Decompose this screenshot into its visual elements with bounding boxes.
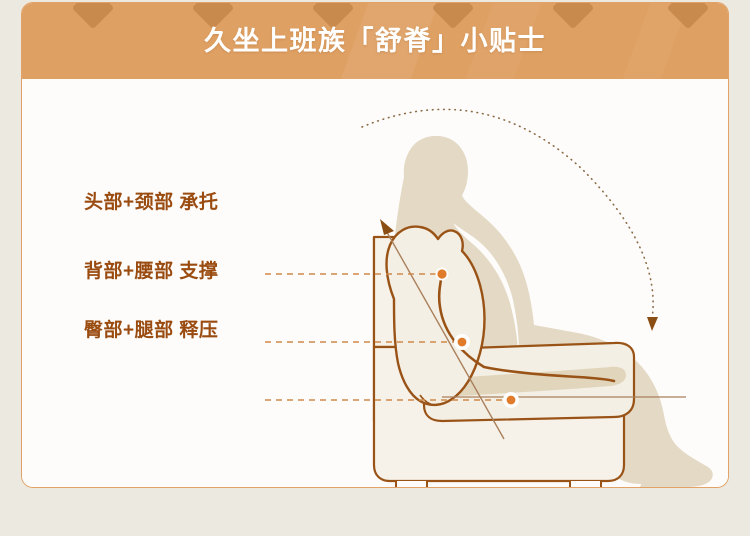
spine-contour-line: [439, 274, 614, 381]
sofa-seat-cushion: [424, 343, 634, 421]
card-body: 头部+颈部 承托 背部+腰部 支撑 臀部+腿部 释压: [22, 79, 728, 487]
callout-dot-back-waist[interactable]: [454, 334, 470, 350]
person-silhouette: [393, 136, 718, 488]
tips-card: 久坐上班族「舒脊」小贴士 头部+颈部 承托 背部+腰部 支撑 臀部+腿部 释压: [21, 2, 729, 488]
sofa-leg-back: [570, 481, 601, 488]
callout-dot-hip-leg[interactable]: [503, 392, 519, 408]
sofa-leg-front: [396, 481, 427, 488]
cushion-base-arc: [420, 395, 436, 405]
sofa-posture-illustration: [22, 79, 729, 488]
sofa-back-cushion: [387, 227, 485, 405]
recline-arc-dotted: [362, 109, 653, 319]
callout-dot-head-neck[interactable]: [436, 268, 449, 281]
recline-reference-line: [384, 227, 504, 439]
arc-arrowhead-icon: [647, 317, 658, 331]
sofa-back-panel: [374, 237, 496, 421]
sofa-arm-panel: [374, 237, 426, 347]
callout-label-head-neck: 头部+颈部 承托: [84, 187, 218, 214]
page-root: 久坐上班族「舒脊」小贴士 头部+颈部 承托 背部+腰部 支撑 臀部+腿部 释压: [0, 0, 750, 536]
card-header: 久坐上班族「舒脊」小贴士: [22, 3, 728, 79]
callout-label-hip-leg: 臀部+腿部 释压: [84, 315, 218, 342]
page-title: 久坐上班族「舒脊」小贴士: [22, 3, 728, 79]
seat-pressure-band: [440, 367, 626, 397]
sofa-base: [374, 347, 624, 481]
recline-arrowhead-icon: [380, 219, 394, 235]
callout-label-back-waist: 背部+腰部 支撑: [84, 256, 218, 283]
